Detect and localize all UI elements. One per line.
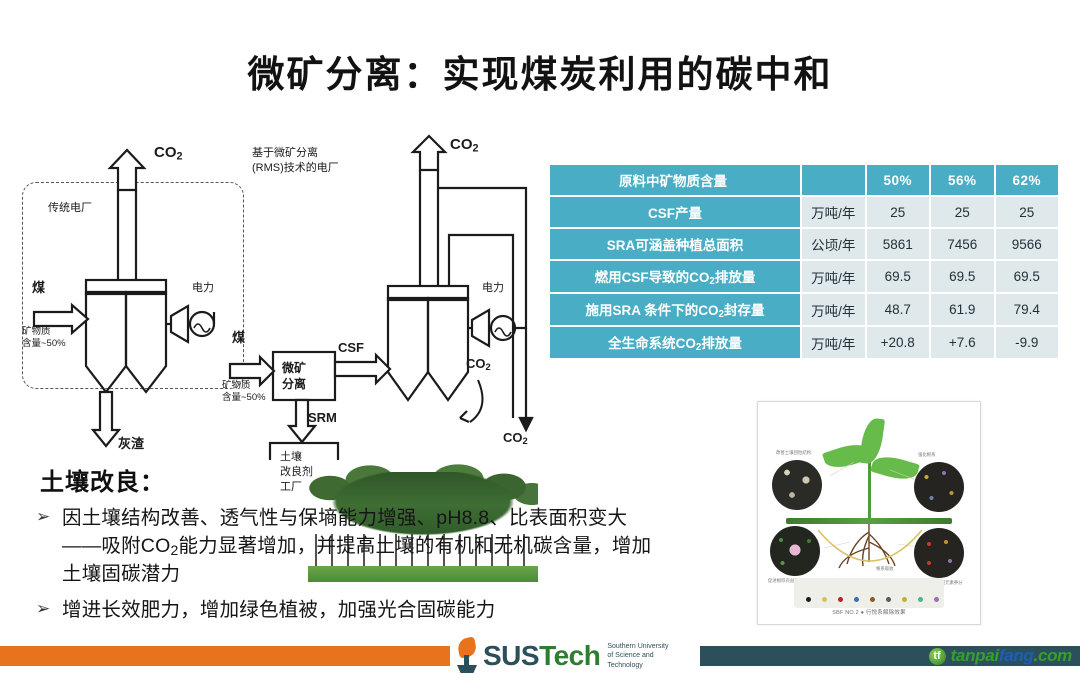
row-unit-lifecycle-emission: 万吨/年 [802,327,865,358]
legend-dot-8 [918,597,923,602]
plant-legend-bar [794,578,944,608]
label-co2-bottom-right: CO2 [503,430,528,448]
plant-label-top-right: 强化根系 [918,452,936,458]
microstructure-circle-top-right [914,462,964,512]
row-unit-sra-sequestration: 万吨/年 [802,294,865,325]
label-power-left: 电力 [192,282,214,296]
row-label-lifecycle-emission: 全生命系统CO2排放量 [550,327,800,358]
label-rms-box: 微矿分离 [282,360,306,392]
plant-legend-caption: SBF NO.2 ● 行悦系解除效果 [758,608,980,616]
cell-csf-emission-62: 69.5 [996,261,1059,292]
label-coal-left: 煤 [32,280,45,296]
process-flow-diagram: 传统电厂 CO2 煤 矿物质含量~50% 电力 灰渣 基于微矿分离(RMS)技术… [8,130,538,460]
results-table: 原料中矿物质含量 50% 56% 62% CSF产量 万吨/年 25 25 25… [548,163,1060,360]
soil-section-heading: 土壤改良： [40,462,165,497]
label-power-right: 电力 [482,282,504,296]
plant-label-center: 根系吸收 [876,566,894,572]
label-srm: SRM [308,410,337,426]
table-header-col-2: 62% [996,165,1059,195]
table-row: 全生命系统CO2排放量 万吨/年 +20.8 +7.6 -9.9 [550,327,1058,358]
cell-sra-area-62: 9566 [996,229,1059,259]
bullet-text-1: 因土壤结构改善、透气性与保墒能力增强、pH8.8、比表面积变大——吸附CO2能力… [62,504,656,588]
row-unit-sra-area: 公顷/年 [802,229,865,259]
microstructure-circle-top-left [772,460,822,510]
table-row: 施用SRA 条件下的CO2封存量 万吨/年 48.7 61.9 79.4 [550,294,1058,325]
cell-sra-sequestration-56: 61.9 [931,294,994,325]
torch-flame-icon [455,638,479,674]
cell-sra-area-50: 5861 [867,229,930,259]
label-co2-left: CO2 [154,144,183,164]
cell-sra-area-56: 7456 [931,229,994,259]
slide-footer: SUSTech Southern University of Science a… [0,632,1080,680]
diagram-svg [8,130,538,460]
flame-base-shape [457,665,477,673]
bullet-arrow-icon: ➢ [36,596,62,621]
label-soil-factory: 土壤改良剂工厂 [280,450,313,496]
legend-dot-2 [822,597,827,602]
table-header-label: 原料中矿物质含量 [550,165,800,195]
bullet-text-2: 增进长效肥力，增加绿色植被，加强光合固碳能力 [62,596,495,624]
plant-label-top-left: 改善土壤团粒结构 [776,450,811,456]
legend-dot-7 [902,597,907,602]
label-coal-right: 煤 [232,330,245,346]
legend-dot-6 [886,597,891,602]
label-co2-top-right: CO2 [450,136,479,156]
cell-csf-output-50: 25 [867,197,930,227]
table-header-col-0: 50% [867,165,930,195]
legend-dot-5 [870,597,875,602]
row-unit-csf-output: 万吨/年 [802,197,865,227]
microstructure-circle-bottom-left [770,526,820,576]
cell-sra-sequestration-50: 48.7 [867,294,930,325]
row-unit-csf-emission: 万吨/年 [802,261,865,292]
soil-bullet-list: ➢ 因土壤结构改善、透气性与保墒能力增强、pH8.8、比表面积变大——吸附CO2… [36,504,656,633]
page-title: 微矿分离：实现煤炭利用的碳中和 [0,44,1080,98]
row-label-csf-output: CSF产量 [550,197,800,227]
slide-root: 微矿分离：实现煤炭利用的碳中和 [0,0,1080,680]
list-item: ➢ 因土壤结构改善、透气性与保墒能力增强、pH8.8、比表面积变大——吸附CO2… [36,504,656,588]
footer-bar-orange [0,646,450,666]
label-ash: 灰渣 [118,436,144,452]
cell-lifecycle-emission-56: +7.6 [931,327,994,358]
sustech-subtitle: Southern University of Science and Techn… [607,642,668,670]
sustech-logo: SUSTech Southern University of Science a… [455,633,668,679]
sustech-wordmark: SUSTech [483,640,600,672]
cell-csf-output-56: 25 [931,197,994,227]
legend-dot-1 [806,597,811,602]
cell-csf-emission-56: 69.5 [931,261,994,292]
row-label-csf-emission: 燃用CSF导致的CO2排放量 [550,261,800,292]
microstructure-circle-bottom-right [914,528,964,578]
cell-lifecycle-emission-62: -9.9 [996,327,1059,358]
label-traditional-plant: 传统电厂 [48,202,92,216]
label-csf: CSF [338,340,364,356]
legend-dot-9 [934,597,939,602]
legend-dot-4 [854,597,859,602]
results-table-container: 原料中矿物质含量 50% 56% 62% CSF产量 万吨/年 25 25 25… [548,163,1060,360]
table-row: SRA可涵盖种植总面积 公顷/年 5861 7456 9566 [550,229,1058,259]
list-item: ➢ 增进长效肥力，增加绿色植被，加强光合固碳能力 [36,596,656,624]
label-rms-plant: 基于微矿分离(RMS)技术的电厂 [252,146,339,177]
soil-microstructure-illustration: 改善土壤团粒结构 强化根系 促进根际有益微生物繁殖 补充矿化复合微量元素养分 根… [757,401,981,625]
table-header-unit-blank [802,165,865,195]
row-label-sra-area: SRA可涵盖种植总面积 [550,229,800,259]
tanpaifang-watermark[interactable]: tf tanpaifang.com [929,644,1072,668]
cell-csf-output-62: 25 [996,197,1059,227]
legend-dot-3 [838,597,843,602]
leaf-icon: tf [929,648,946,665]
label-coal-right-note: 矿物质含量~50% [222,380,266,404]
bullet-arrow-icon: ➢ [36,504,62,529]
row-label-sra-sequestration: 施用SRA 条件下的CO2封存量 [550,294,800,325]
flame-stem-shape [464,655,469,666]
table-header-row: 原料中矿物质含量 50% 56% 62% [550,165,1058,195]
cell-csf-emission-50: 69.5 [867,261,930,292]
cell-sra-sequestration-62: 79.4 [996,294,1059,325]
cell-lifecycle-emission-50: +20.8 [867,327,930,358]
watermark-text: tanpaifang.com [951,646,1072,666]
label-co2-mid-right: CO2 [466,356,491,374]
table-header-col-1: 56% [931,165,994,195]
table-row: 燃用CSF导致的CO2排放量 万吨/年 69.5 69.5 69.5 [550,261,1058,292]
label-coal-left-note: 矿物质含量~50% [22,326,66,350]
table-row: CSF产量 万吨/年 25 25 25 [550,197,1058,227]
